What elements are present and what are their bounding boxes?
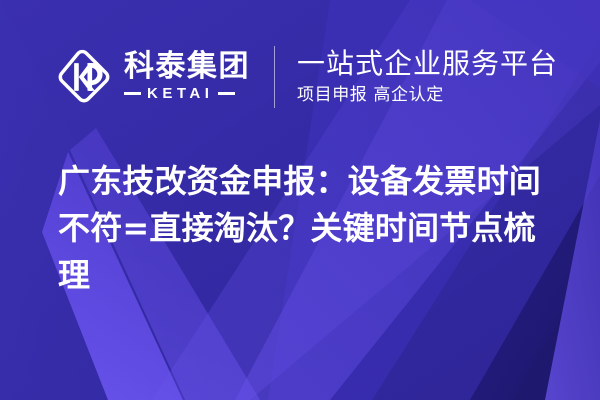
brand-name-en-row: KETAI [124, 85, 250, 102]
dash-right-icon [218, 92, 235, 95]
tagline-main: 一站式企业服务平台 [297, 48, 558, 79]
brand-logo[interactable]: 科泰集团 KETAI [55, 38, 250, 116]
promo-banner: 科泰集团 KETAI 一站式企业服务平台 项目申报 高企认定 广东技改资金申报：… [0, 0, 600, 400]
banner-header: 科泰集团 KETAI 一站式企业服务平台 项目申报 高企认定 [55, 38, 558, 116]
dash-left-icon [124, 92, 141, 95]
tagline-sub: 项目申报 高企认定 [297, 84, 558, 106]
ketai-kt-monogram-icon [55, 48, 113, 106]
banner-content: 科泰集团 KETAI 一站式企业服务平台 项目申报 高企认定 广东技改资金申报：… [0, 0, 600, 400]
brand-name-cn: 科泰集团 [124, 52, 250, 83]
brand-wordmark: 科泰集团 KETAI [124, 52, 250, 103]
tagline-block: 一站式企业服务平台 项目申报 高企认定 [297, 48, 558, 105]
page-title: 广东技改资金申报：设备发票时间不符=直接淘汰？关键时间节点梳理 [58, 158, 558, 299]
brand-name-en: KETAI [147, 85, 213, 102]
header-divider [274, 46, 275, 108]
